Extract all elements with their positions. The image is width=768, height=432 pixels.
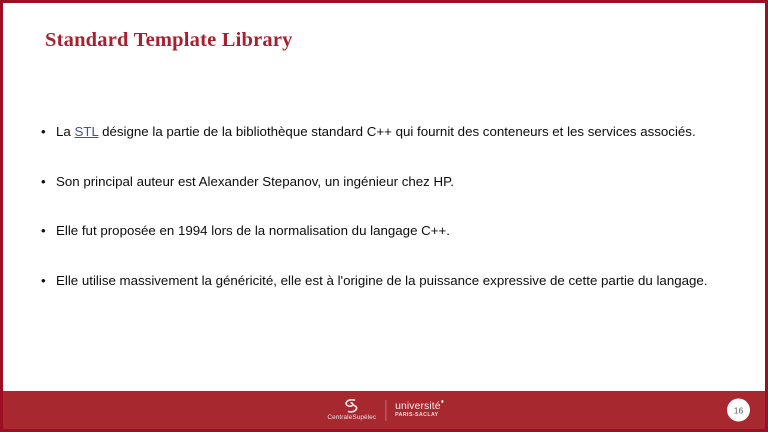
page-title: Standard Template Library — [45, 29, 293, 52]
page-number-badge: 16 — [727, 399, 750, 422]
universite-label-text: université — [395, 401, 440, 412]
bullet-marker-icon: • — [41, 222, 56, 241]
list-item-text: Son principal auteur est Alexander Stepa… — [56, 173, 735, 192]
footer-logo-group: CentraleSupélec université PARIS-SACLAY — [327, 396, 440, 424]
bullet-marker-icon: • — [41, 123, 56, 142]
bullet-marker-icon: • — [41, 173, 56, 192]
centralesupelec-logo: CentraleSupélec — [327, 396, 385, 424]
bullet-list: • La STL désigne la partie de la bibliot… — [41, 123, 735, 290]
list-item: • Son principal auteur est Alexander Ste… — [41, 173, 735, 192]
universite-accent-dot-icon — [441, 400, 444, 403]
stl-link[interactable]: STL — [75, 124, 99, 139]
list-item: • Elle fut proposée en 1994 lors de la n… — [41, 222, 735, 241]
universite-label: université — [395, 401, 440, 412]
list-item: • Elle utilise massivement la généricité… — [41, 272, 735, 291]
centralesupelec-label: CentraleSupélec — [327, 414, 376, 421]
footer-band: CentraleSupélec université PARIS-SACLAY … — [3, 391, 765, 429]
paris-saclay-label: PARIS-SACLAY — [395, 412, 440, 419]
centralesupelec-swirl-icon — [344, 399, 360, 413]
list-item-text: Elle utilise massivement la généricité, … — [56, 272, 735, 291]
list-item-text: Elle fut proposée en 1994 lors de la nor… — [56, 222, 735, 241]
bullet-marker-icon: • — [41, 272, 56, 291]
slide: Standard Template Library • La STL désig… — [0, 0, 768, 432]
list-item: • La STL désigne la partie de la bibliot… — [41, 123, 735, 142]
universite-paris-saclay-logo: université PARIS-SACLAY — [386, 396, 440, 424]
bullet-text-pre: La — [56, 124, 75, 139]
bullet-text-post: désigne la partie de la bibliothèque sta… — [98, 124, 695, 139]
list-item-text: La STL désigne la partie de la bibliothè… — [56, 123, 735, 142]
